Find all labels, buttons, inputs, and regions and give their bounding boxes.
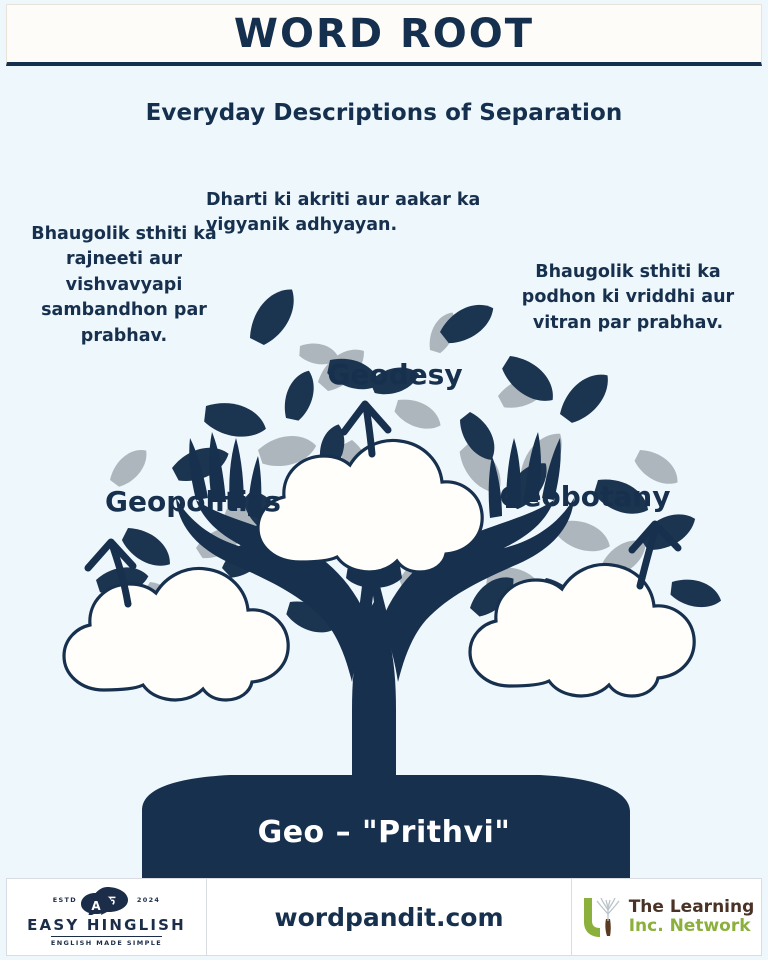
root-word-label: Geo – "Prithvi": [0, 815, 768, 850]
callout-geodesy-description: Dharti ki akriti aur aakar ka vigyanik a…: [206, 188, 546, 239]
logo-tagline: ENGLISH MADE SIMPLE: [51, 936, 162, 947]
logo-estd-label: ESTD: [53, 897, 77, 904]
subtitle: Everyday Descriptions of Separation: [0, 100, 768, 126]
logo-line-1: The Learning: [629, 898, 755, 917]
bubble-latin-char: A: [91, 899, 101, 913]
tree-in-u-icon: [579, 894, 623, 940]
callout-geopolitics-description: Bhaugolik sthiti ka rajneeti aur vishvav…: [8, 222, 240, 349]
header-bar: WORD ROOT: [6, 4, 762, 66]
infographic-poster: WORD ROOT Everyday Descriptions of Separ…: [0, 0, 768, 960]
cloud-label-geopolitics: Geopolitics: [78, 485, 308, 518]
site-url-container[interactable]: wordpandit.com: [207, 903, 571, 932]
callout-geobotany-description: Bhaugolik sthiti ka podhon ki vriddhi au…: [500, 260, 756, 336]
footer-bar: ESTD क A 2024 EASY HINGLISH ENGLISH MADE…: [6, 878, 762, 956]
learning-inc-network-logo: The Learning Inc. Network: [571, 879, 761, 955]
site-url[interactable]: wordpandit.com: [274, 903, 503, 932]
page-title: WORD ROOT: [234, 11, 534, 57]
cloud-geopolitics: [64, 568, 288, 700]
logo-line-2: Inc. Network: [629, 917, 755, 936]
logo-year-label: 2024: [137, 897, 160, 904]
logo-brand-name: EASY HINGLISH: [27, 918, 186, 933]
cloud-label-geodesy: Geodesy: [280, 358, 510, 391]
cloud-label-geobotany: Geobotany: [470, 480, 700, 513]
speech-bubbles-icon: क A: [81, 885, 133, 915]
easy-hinglish-logo: ESTD क A 2024 EASY HINGLISH ENGLISH MADE…: [7, 879, 207, 955]
